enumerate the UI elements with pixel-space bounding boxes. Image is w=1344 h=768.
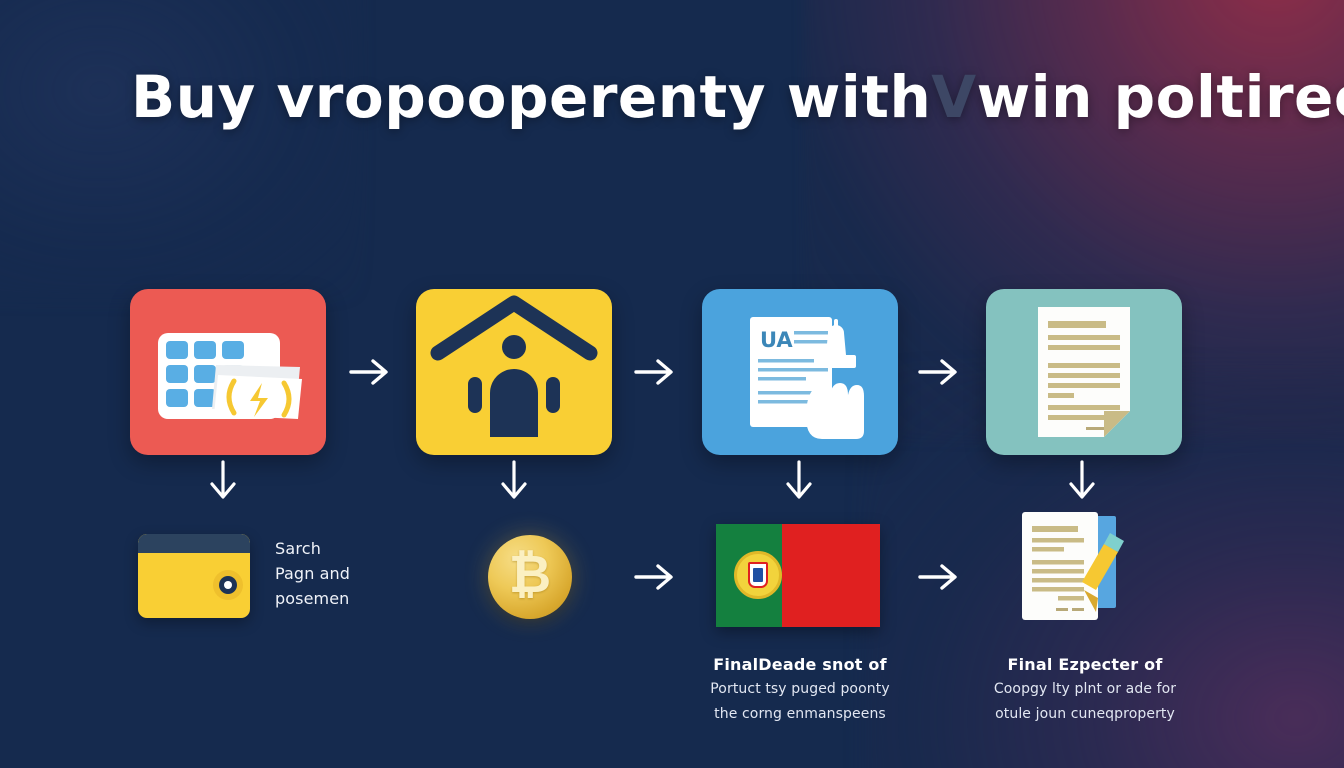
document-stamp-icon: UA xyxy=(702,289,898,455)
step-signed-contract-caption: Final Ezpecter of Coopgy lty plnt or ade… xyxy=(985,652,1185,727)
step-stamp-doc-tile[interactable]: UA xyxy=(702,289,898,455)
page-title-artifact-glyph: V xyxy=(931,63,976,131)
wallet-top-band xyxy=(138,534,250,553)
flag-armillary-sphere xyxy=(734,551,782,599)
caption-line-3: the corng enmanspeens xyxy=(700,702,900,727)
portugal-flag-icon[interactable] xyxy=(716,524,880,627)
step-calculator-tile[interactable] xyxy=(130,289,326,455)
caption-line-1: Sarch xyxy=(275,536,445,561)
wallet-icon[interactable] xyxy=(138,534,250,618)
bitcoin-coin-icon[interactable]: ₿ xyxy=(488,535,572,619)
caption-line-2: Portuct tsy puged poonty xyxy=(700,677,900,702)
flag-red-band xyxy=(782,524,880,627)
contract-document-icon xyxy=(986,289,1182,455)
step-contract-tile[interactable] xyxy=(986,289,1182,455)
arrow-right-4 xyxy=(630,560,682,594)
arrow-right-1 xyxy=(345,355,397,389)
caption-line-2: Coopgy lty plnt or ade for xyxy=(985,677,1185,702)
arrow-down-2 xyxy=(496,458,532,506)
caption-line-2: Pagn and xyxy=(275,561,445,586)
caption-line-3: otule joun cuneqproperty xyxy=(985,702,1185,727)
house-icon xyxy=(416,289,612,455)
bitcoin-symbol: ₿ xyxy=(509,549,551,601)
flag-shield xyxy=(748,562,768,588)
step-portugal-caption: FinalDeade snot of Portuct tsy puged poo… xyxy=(700,652,900,727)
arrow-down-3 xyxy=(781,458,817,506)
arrow-right-3 xyxy=(914,355,966,389)
page-title: Buy vropooperenty withVwin poltiree xyxy=(131,63,1344,131)
arrow-down-4 xyxy=(1064,458,1100,506)
caption-line-1: FinalDeade snot of xyxy=(700,652,900,677)
step-wallet-caption: Sarch Pagn and posemen xyxy=(275,536,445,611)
background-glow-left xyxy=(0,0,360,300)
calculator-money-icon xyxy=(130,289,326,455)
arrow-right-2 xyxy=(630,355,682,389)
document-label-ua: UA xyxy=(760,328,793,352)
arrow-down-1 xyxy=(205,458,241,506)
page-title-tail: win poltiree xyxy=(977,63,1344,131)
caption-line-1: Final Ezpecter of xyxy=(985,652,1185,677)
wallet-clasp xyxy=(213,570,243,600)
page-title-main: Buy vropooperenty with xyxy=(131,63,931,131)
document-pen-icon[interactable] xyxy=(1018,508,1146,628)
caption-line-3: posemen xyxy=(275,586,445,611)
step-house-tile[interactable] xyxy=(416,289,612,455)
arrow-right-5 xyxy=(914,560,966,594)
